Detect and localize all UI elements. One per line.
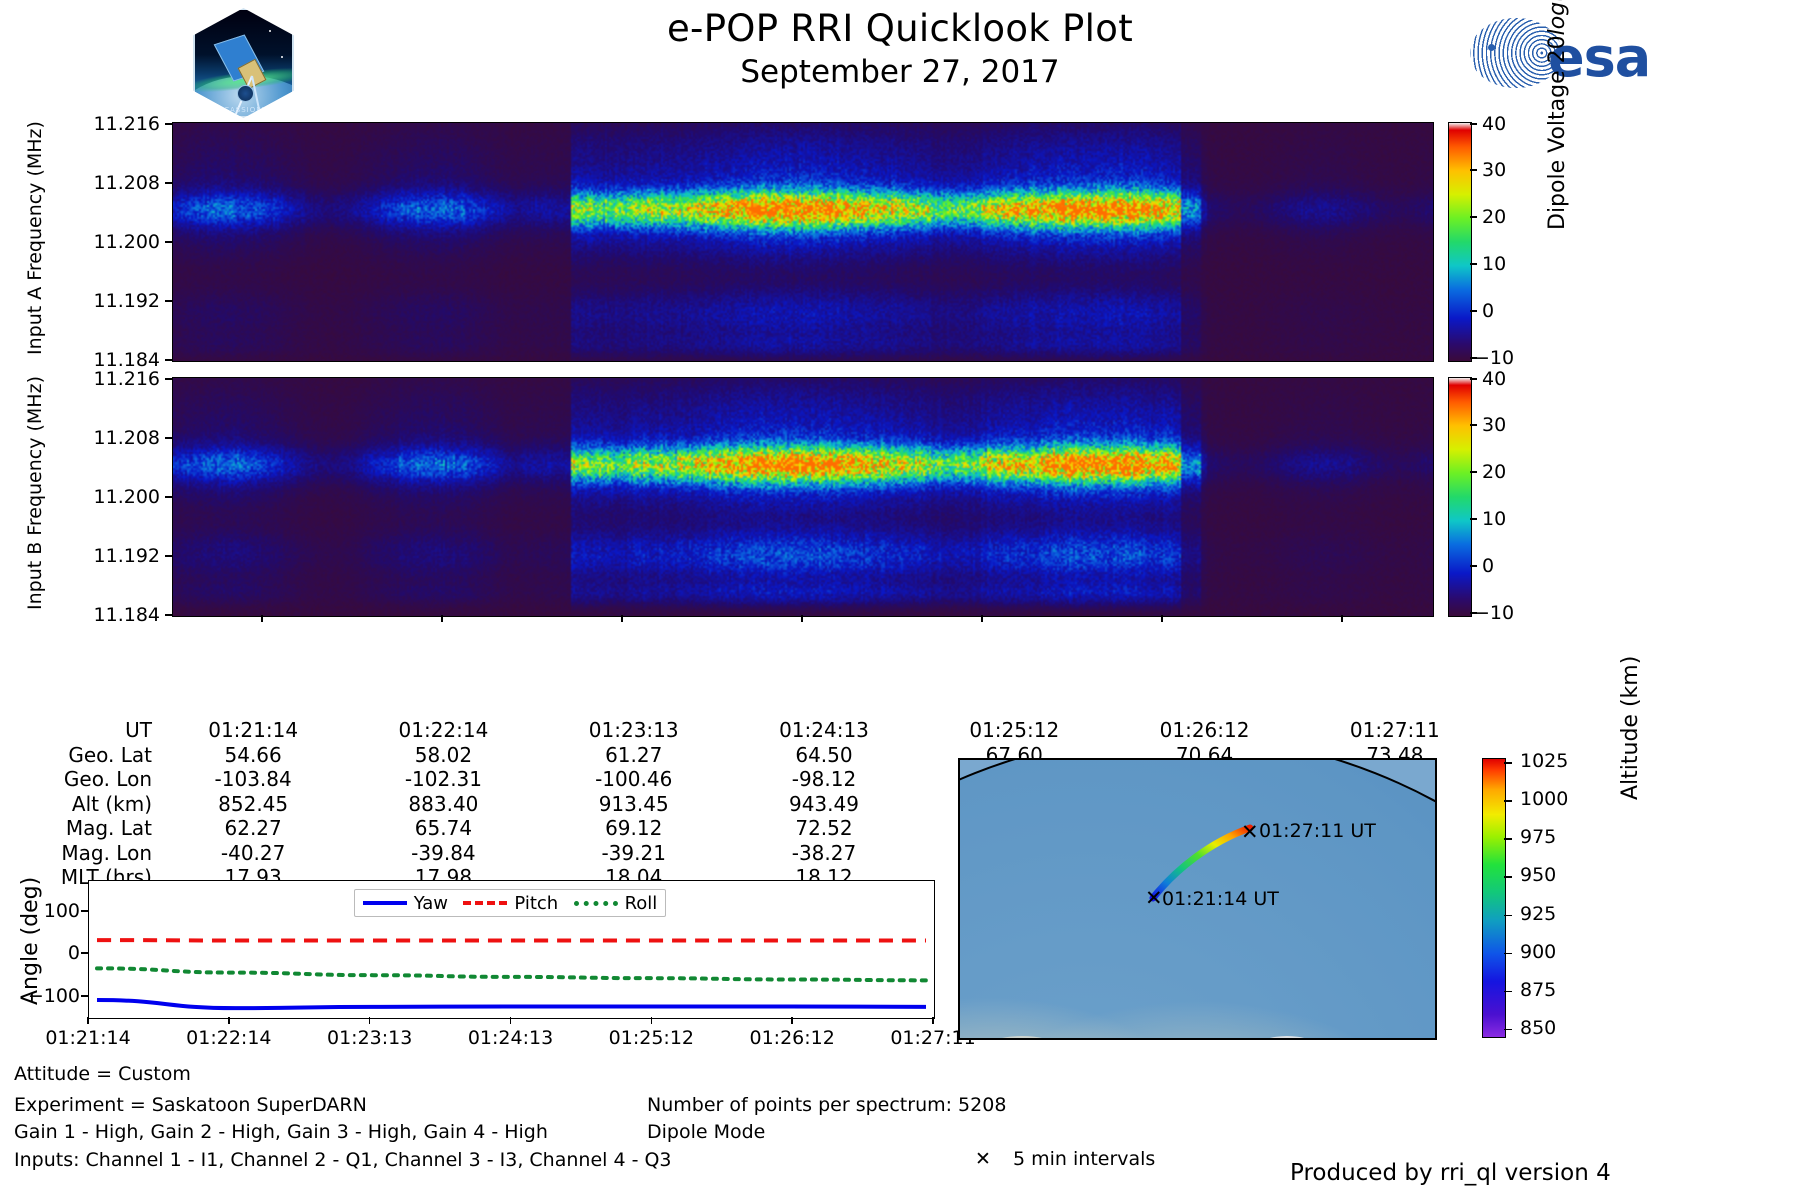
spec-b-ytick-0: 11.216 <box>40 368 160 390</box>
cbar-b-tick-3: 10 <box>1482 508 1506 530</box>
altitude-colorbar-tick: 875 <box>1520 979 1556 1001</box>
ephemeris-row-label: UT <box>0 718 158 743</box>
ephemeris-cell: 943.49 <box>729 792 919 817</box>
attitude-xtick-mark <box>369 1017 371 1024</box>
footer-inputs: Inputs: Channel 1 - I1, Channel 2 - Q1, … <box>14 1149 672 1171</box>
ephemeris-row-label: Mag. Lon <box>0 841 158 866</box>
spec-b-ytick-2: 11.200 <box>40 486 160 508</box>
cassiope-logo-label: CASSIOPE <box>195 106 294 114</box>
attitude-xtick-mark <box>651 1017 653 1024</box>
colorbar-a <box>1448 122 1472 362</box>
ephemeris-cell: -39.84 <box>348 841 538 866</box>
spec-a-ytick-1: 11.208 <box>40 172 160 194</box>
ephemeris-row-label: Geo. Lon <box>0 767 158 792</box>
ephemeris-row-label: Alt (km) <box>0 792 158 817</box>
ephemeris-cell: -102.31 <box>348 767 538 792</box>
attitude-ytick-2: −100 <box>12 985 80 1007</box>
attitude-xtick-mark <box>932 1017 934 1024</box>
colorbar-label-main: Dipole Voltage 20 <box>1545 35 1570 230</box>
altitude-colorbar-tick: 975 <box>1520 826 1556 848</box>
colorbar-label-italic: log(µV <box>1545 0 1570 35</box>
ephemeris-cell: -100.46 <box>539 767 729 792</box>
altitude-colorbar-tick: 850 <box>1520 1017 1556 1039</box>
cbar-a-tick-3: 10 <box>1482 253 1506 275</box>
attitude-xtick-mark <box>228 1017 230 1024</box>
ephemeris-cell: 883.40 <box>348 792 538 817</box>
cbar-b-tick-2: 20 <box>1482 461 1506 483</box>
attitude-legend: YawPitchRoll <box>354 889 666 917</box>
attitude-legend-item[interactable]: Yaw <box>363 893 448 914</box>
attitude-legend-label: Roll <box>625 893 658 914</box>
attitude-xtick-label: 01:23:13 <box>310 1027 430 1049</box>
spec-b-ytick-4: 11.184 <box>40 604 160 626</box>
spec-b-ytick-3: 11.192 <box>40 545 160 567</box>
cbar-b-tick-4: 0 <box>1482 555 1494 577</box>
spec-a-ytick-2: 11.200 <box>40 231 160 253</box>
ephemeris-cell: 01:26:12 <box>1109 718 1299 743</box>
altitude-colorbar-tick-mark <box>1504 915 1512 917</box>
cbar-b-tick-5: −10 <box>1474 602 1514 624</box>
attitude-legend-line <box>574 901 618 906</box>
spec-b-ytick-1: 11.208 <box>40 427 160 449</box>
ephemeris-cell: 01:21:14 <box>158 718 348 743</box>
altitude-colorbar-tick: 950 <box>1520 864 1556 886</box>
attitude-legend-line <box>463 901 507 905</box>
spectrogram-xtick <box>261 615 263 622</box>
cbar-a-tick-0: 40 <box>1482 113 1506 135</box>
attitude-ytick-1: 0 <box>20 942 80 964</box>
attitude-xtick-label: 01:25:12 <box>591 1027 711 1049</box>
ephemeris-cell: 62.27 <box>158 816 348 841</box>
spectrogram-a-plot <box>172 122 1434 362</box>
spectrogram-xtick <box>1161 615 1163 622</box>
attitude-legend-label: Yaw <box>414 893 448 914</box>
ephemeris-cell: -38.27 <box>729 841 919 866</box>
cbar-b-tick-1: 30 <box>1482 414 1506 436</box>
spectrogram-xtick <box>621 615 623 622</box>
altitude-colorbar-tick-mark <box>1504 800 1512 802</box>
ephemeris-row: UT01:21:1401:22:1401:23:1301:24:1301:25:… <box>0 718 1490 743</box>
interval-marker-icon: ✕ <box>975 1148 991 1170</box>
attitude-xtick-label: 01:24:13 <box>451 1027 571 1049</box>
footer-experiment: Experiment = Saskatoon SuperDARN <box>14 1094 367 1116</box>
attitude-plot: YawPitchRoll <box>88 880 935 1019</box>
altitude-colorbar-tick: 900 <box>1520 941 1556 963</box>
cbar-a-tick-5: −10 <box>1474 347 1514 369</box>
esa-logo-icon: esa <box>1470 14 1690 92</box>
attitude-legend-item[interactable]: Roll <box>574 893 658 914</box>
interval-legend-label: 5 min intervals <box>1013 1148 1155 1170</box>
altitude-colorbar-tick-mark <box>1504 1029 1512 1031</box>
ephemeris-cell: 01:22:14 <box>348 718 538 743</box>
attitude-legend-label: Pitch <box>514 893 558 914</box>
footer-mode: Dipole Mode <box>647 1121 765 1143</box>
ephemeris-cell: -103.84 <box>158 767 348 792</box>
attitude-xtick-mark <box>791 1017 793 1024</box>
colorbar-label: Dipole Voltage 20log(µVBS) <box>1545 0 1573 230</box>
ephemeris-cell: -40.27 <box>158 841 348 866</box>
spectrogram-b-plot <box>172 377 1434 617</box>
ephemeris-cell: 65.74 <box>348 816 538 841</box>
altitude-colorbar-tick: 1000 <box>1520 788 1568 810</box>
altitude-colorbar-label: Altitude (km) <box>1618 656 1643 800</box>
spec-a-ytick-3: 11.192 <box>40 290 160 312</box>
attitude-xtick-label: 01:22:14 <box>169 1027 289 1049</box>
cbar-a-tick-1: 30 <box>1482 159 1506 181</box>
altitude-colorbar-tick-mark <box>1504 991 1512 993</box>
footer-gains: Gain 1 - High, Gain 2 - High, Gain 3 - H… <box>14 1121 548 1143</box>
attitude-xtick-label: 01:21:14 <box>28 1027 148 1049</box>
ephemeris-cell: 01:27:11 <box>1300 718 1490 743</box>
cbar-b-tick-0: 40 <box>1482 368 1506 390</box>
footer-produced-by: Produced by rri_ql version 4 <box>1290 1160 1611 1186</box>
ephemeris-cell: 64.50 <box>729 743 919 768</box>
ephemeris-cell: -39.21 <box>539 841 729 866</box>
altitude-colorbar-tick-mark <box>1504 953 1512 955</box>
altitude-colorbar-tick-mark <box>1504 876 1512 878</box>
altitude-colorbar <box>1482 758 1506 1038</box>
spectrogram-xtick <box>441 615 443 622</box>
footer-attitude: Attitude = Custom <box>14 1063 191 1085</box>
track-end-label: 01:27:11 UT <box>1259 820 1376 842</box>
ephemeris-cell: 58.02 <box>348 743 538 768</box>
spectrogram-xtick <box>981 615 983 622</box>
attitude-series-yaw <box>97 1000 926 1008</box>
attitude-xtick-mark <box>87 1017 89 1024</box>
ground-track-map[interactable]: ✕ 01:21:14 UT ✕ 01:27:11 UT <box>958 758 1437 1040</box>
altitude-colorbar-tick: 1025 <box>1520 750 1568 772</box>
footer-points-per-spectrum: Number of points per spectrum: 5208 <box>647 1094 1006 1116</box>
attitude-legend-item[interactable]: Pitch <box>463 893 558 914</box>
ephemeris-cell: -98.12 <box>729 767 919 792</box>
track-end-marker: ✕ <box>1241 822 1259 843</box>
colorbar-b <box>1448 377 1472 617</box>
cbar-a-tick-4: 0 <box>1482 300 1494 322</box>
spectrogram-xtick <box>1341 615 1343 622</box>
attitude-series-roll <box>97 968 926 980</box>
spec-a-ytick-0: 11.216 <box>40 113 160 135</box>
ephemeris-cell: 852.45 <box>158 792 348 817</box>
ephemeris-cell: 01:23:13 <box>539 718 729 743</box>
ephemeris-row-label: Geo. Lat <box>0 743 158 768</box>
ephemeris-cell: 69.12 <box>539 816 729 841</box>
cbar-a-tick-2: 20 <box>1482 206 1506 228</box>
attitude-xtick-mark <box>510 1017 512 1024</box>
ephemeris-cell: 54.66 <box>158 743 348 768</box>
track-start-label: 01:21:14 UT <box>1162 888 1279 910</box>
altitude-colorbar-tick: 925 <box>1520 903 1556 925</box>
ephemeris-cell: 72.52 <box>729 816 919 841</box>
ephemeris-cell: 01:25:12 <box>919 718 1109 743</box>
track-start-marker: ✕ <box>1145 888 1163 909</box>
altitude-colorbar-tick-mark <box>1504 762 1512 764</box>
attitude-legend-line <box>363 901 407 905</box>
attitude-ytick-0: 100 <box>20 900 80 922</box>
ephemeris-cell: 61.27 <box>539 743 729 768</box>
altitude-colorbar-tick-mark <box>1504 838 1512 840</box>
ephemeris-cell: 913.45 <box>539 792 729 817</box>
attitude-xtick-label: 01:26:12 <box>732 1027 852 1049</box>
spectrogram-xtick <box>801 615 803 622</box>
cassiope-logo-icon: CASSIOPE <box>193 8 294 118</box>
ephemeris-row-label: Mag. Lat <box>0 816 158 841</box>
ephemeris-cell: 01:24:13 <box>729 718 919 743</box>
